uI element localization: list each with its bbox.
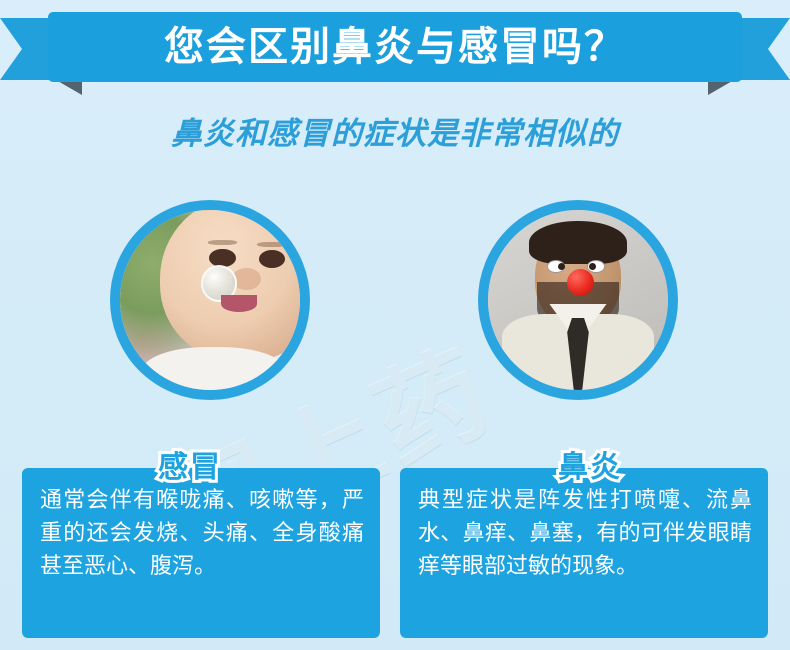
caption-rhinitis: 鼻炎	[410, 442, 770, 486]
baby-bib	[142, 347, 286, 390]
baby-eye-right	[259, 250, 285, 268]
man-hair	[529, 221, 626, 264]
page-title: 您会区别鼻炎与感冒吗？	[164, 27, 626, 67]
caption-cold: 感冒	[0, 442, 380, 486]
description-text-rhinitis: 典型症状是阵发性打喷嚏、流鼻水、鼻痒、鼻塞，有的可伴发眼睛痒等眼部过敏的现象。	[418, 484, 752, 583]
baby-eye-left	[209, 249, 235, 267]
baby-mouth	[221, 295, 257, 312]
description-box-cold: 通常会伴有喉咙痛、咳嗽等，严重的还会发烧、头痛、全身酸痛甚至恶心、腹泻。	[22, 468, 380, 638]
description-box-rhinitis: 典型症状是阵发性打喷嚏、流鼻水、鼻痒、鼻塞，有的可伴发眼睛痒等眼部过敏的现象。	[400, 468, 768, 638]
description-text-cold: 通常会伴有喉咙痛、咳嗽等，严重的还会发烧、头痛、全身酸痛甚至恶心、腹泻。	[40, 484, 364, 583]
baby-brow-left	[208, 240, 238, 245]
photo-circle-cold	[110, 200, 310, 400]
photo-circle-rhinitis	[478, 200, 678, 400]
baby-photo	[120, 210, 300, 390]
baby-brow-right	[257, 242, 287, 247]
subtitle: 鼻炎和感冒的症状是非常相似的	[0, 108, 790, 153]
banner-bar: 您会区别鼻炎与感冒吗？	[48, 12, 742, 82]
header-ribbon: 您会区别鼻炎与感冒吗？	[0, 12, 790, 88]
man-photo	[488, 210, 668, 390]
